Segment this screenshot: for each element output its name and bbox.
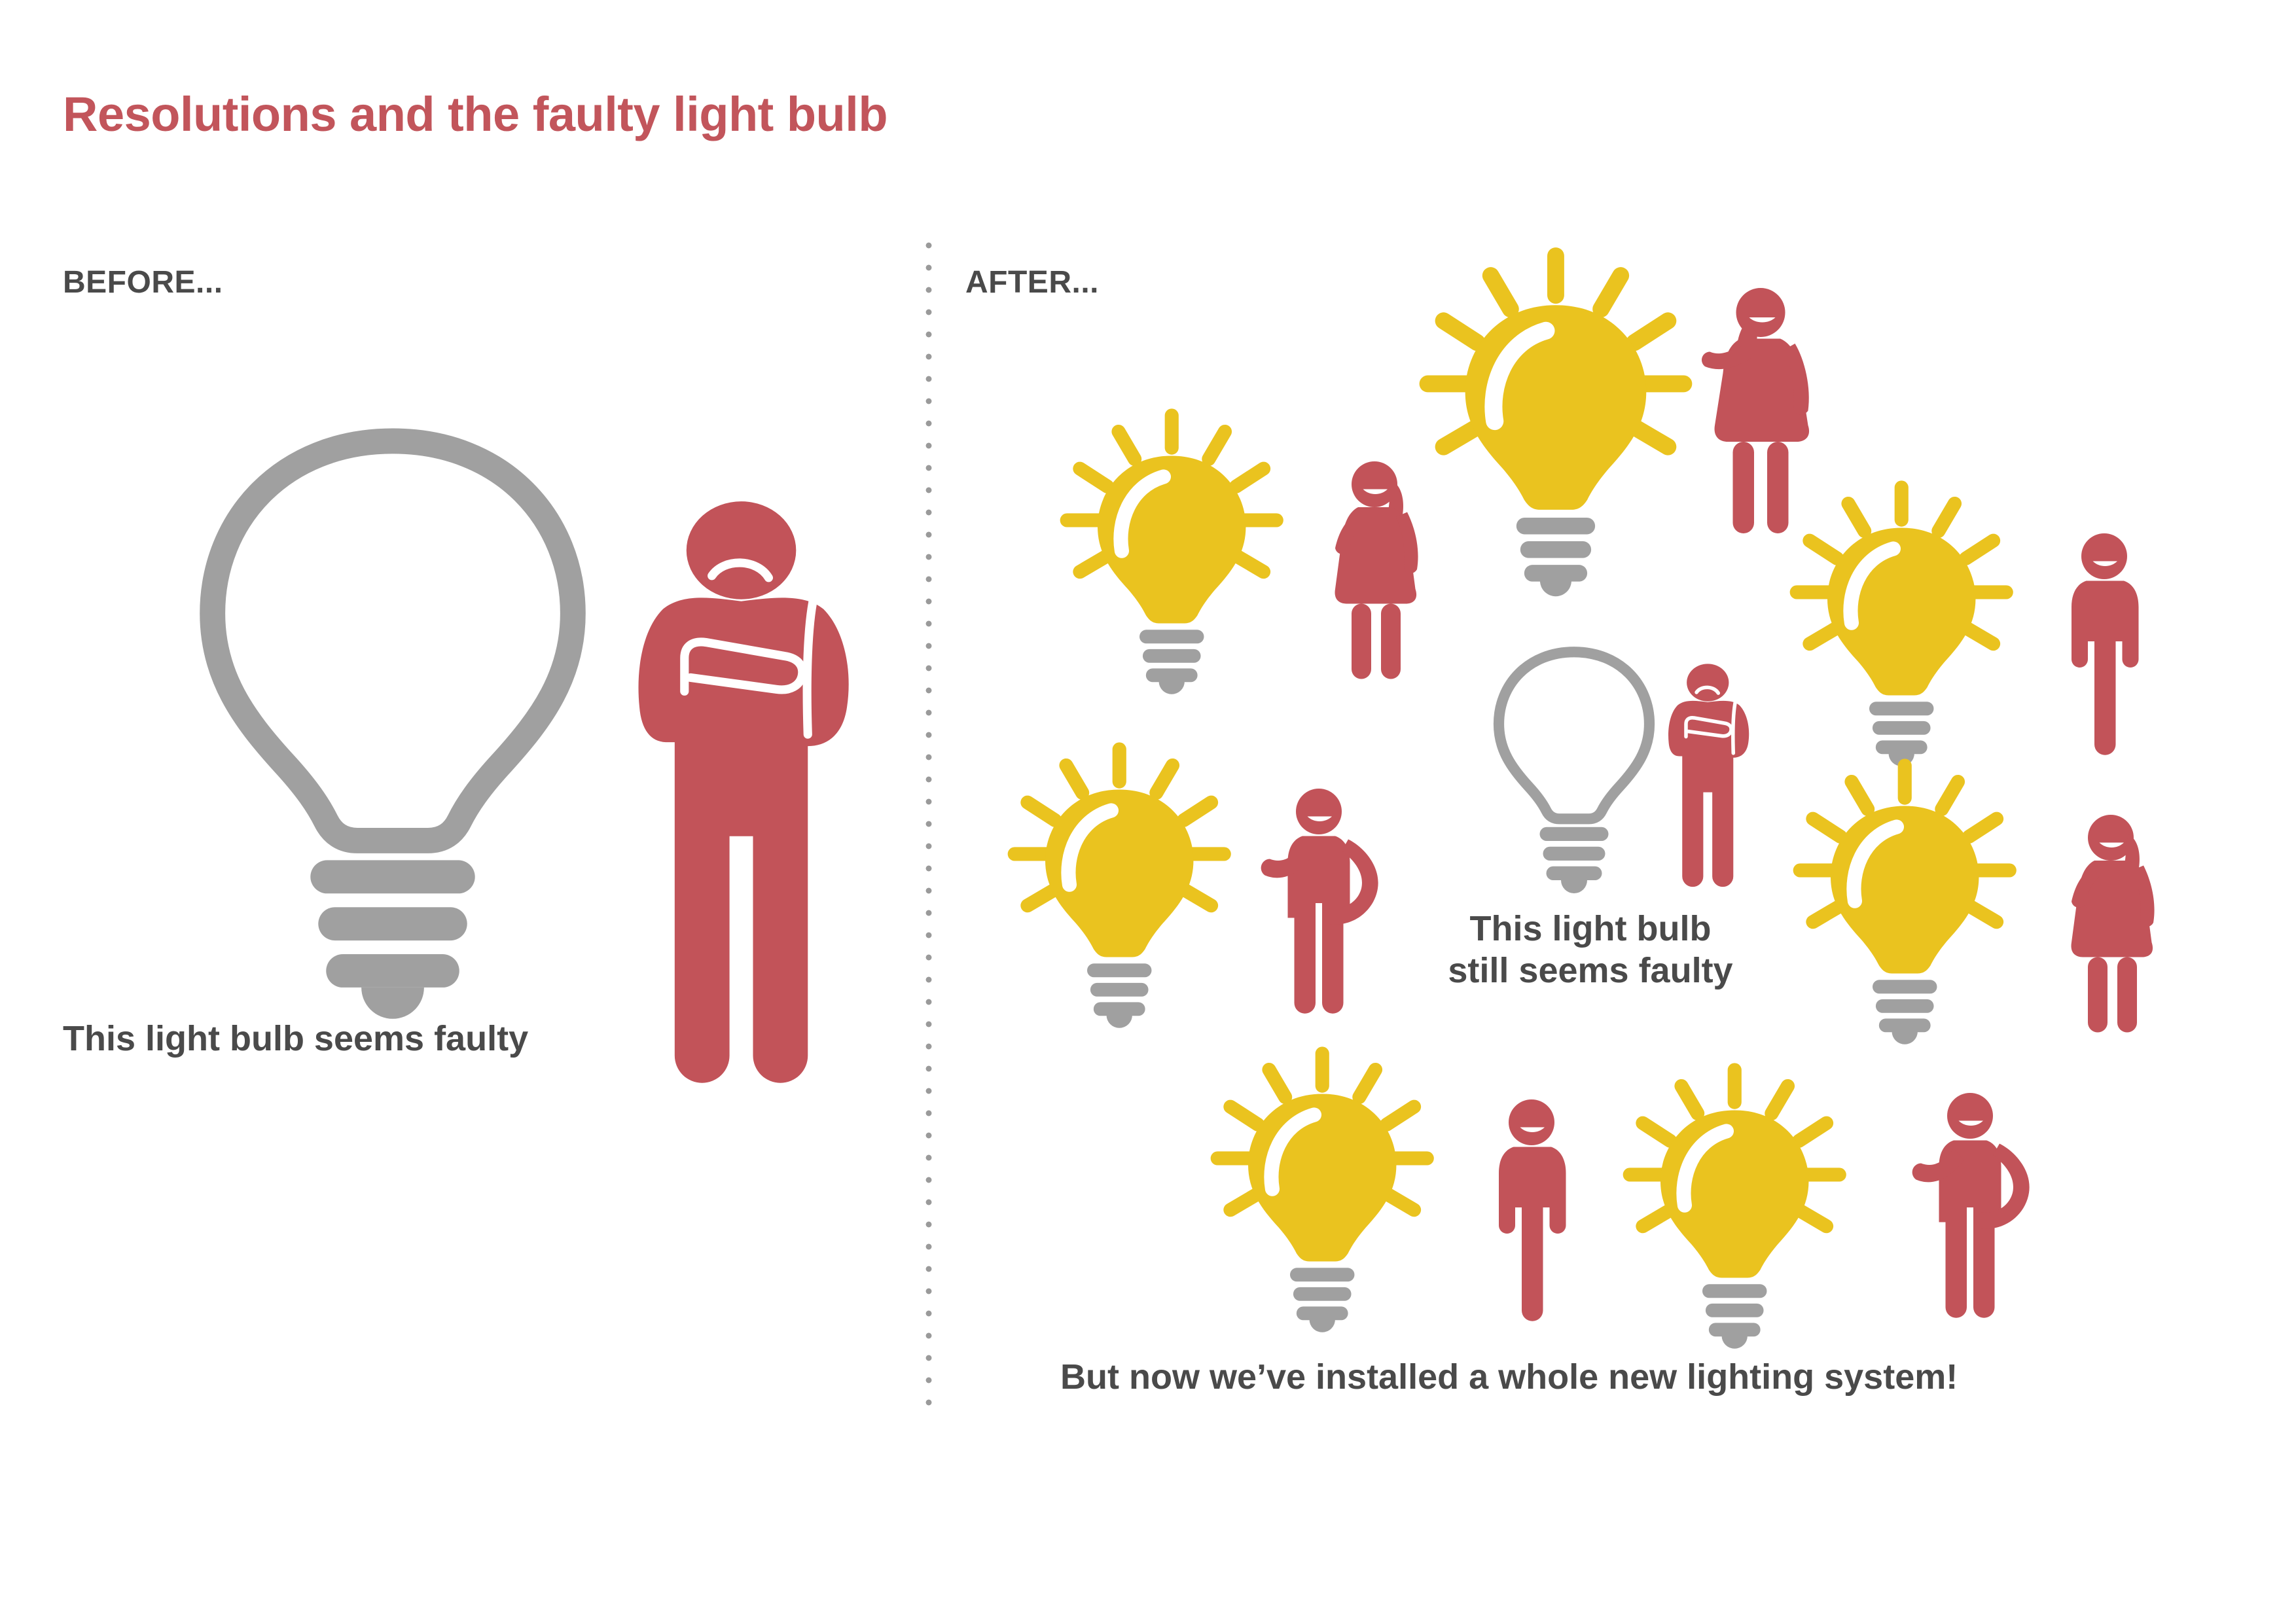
panel-divider-dotted bbox=[925, 242, 932, 1420]
after-caption: But now we’ve installed a whole new ligh… bbox=[1060, 1357, 1958, 1397]
section-label-before: BEFORE... bbox=[63, 264, 223, 300]
after-bulb-lit-upper-left bbox=[1064, 412, 1299, 643]
person-sad-arms-folded-icon bbox=[638, 501, 848, 1083]
after-bulb-lit-mid-right bbox=[1797, 762, 2032, 993]
after-person-man-hip-mid-left bbox=[1263, 785, 1394, 1014]
page-title: Resolutions and the faulty light bulb bbox=[63, 86, 888, 142]
after-bulb-lit-mid-left bbox=[1011, 746, 1247, 976]
person-sad-arms-folded-icon bbox=[1668, 664, 1749, 887]
infographic-canvas: Resolutions and the faulty light bulb BE… bbox=[0, 0, 2296, 1623]
after-center-caption: This light bulb still seems faulty bbox=[1414, 908, 1767, 991]
after-bulb-lit-bottom-right bbox=[1626, 1067, 1862, 1297]
after-person-man-bottom-left bbox=[1482, 1096, 1581, 1322]
light-bulb-filled-icon bbox=[1045, 789, 1193, 1027]
after-bulb-lit-bottom-left bbox=[1214, 1050, 1450, 1281]
after-bulb-lit-top bbox=[1424, 252, 1712, 533]
person-man-standing-icon bbox=[1499, 1099, 1566, 1321]
light-bulb-filled-icon bbox=[1660, 1110, 1808, 1348]
light-bulb-filled-icon bbox=[1831, 806, 1979, 1044]
person-man-hand-on-hip-icon bbox=[1912, 1093, 2030, 1318]
before-caption: This light bulb seems faulty bbox=[63, 1018, 528, 1059]
before-person-sad bbox=[632, 488, 870, 1063]
after-person-sad-center bbox=[1666, 654, 1757, 883]
light-bulb-filled-icon bbox=[1827, 527, 1975, 766]
person-man-hand-on-hip-icon bbox=[1261, 789, 1378, 1014]
light-bulb-filled-icon bbox=[1465, 305, 1647, 596]
before-bulb-unlit bbox=[196, 425, 589, 962]
after-person-girl-mid-right bbox=[2065, 811, 2176, 1037]
after-bulb-lit-upper-right bbox=[1793, 484, 2029, 715]
after-bulb-unlit-center bbox=[1492, 645, 1656, 870]
light-bulb-outline-icon bbox=[213, 441, 573, 1019]
person-man-standing-icon bbox=[2072, 533, 2139, 755]
after-person-girl-upper-left bbox=[1329, 458, 1440, 684]
light-bulb-filled-icon bbox=[1248, 1094, 1396, 1332]
section-label-after: AFTER... bbox=[965, 264, 1099, 300]
light-bulb-filled-icon bbox=[1098, 455, 1246, 694]
after-person-man-upper-right bbox=[2055, 530, 2153, 756]
after-person-man-hip-bottom-right bbox=[1914, 1090, 2045, 1319]
light-bulb-outline-icon bbox=[1499, 652, 1649, 893]
